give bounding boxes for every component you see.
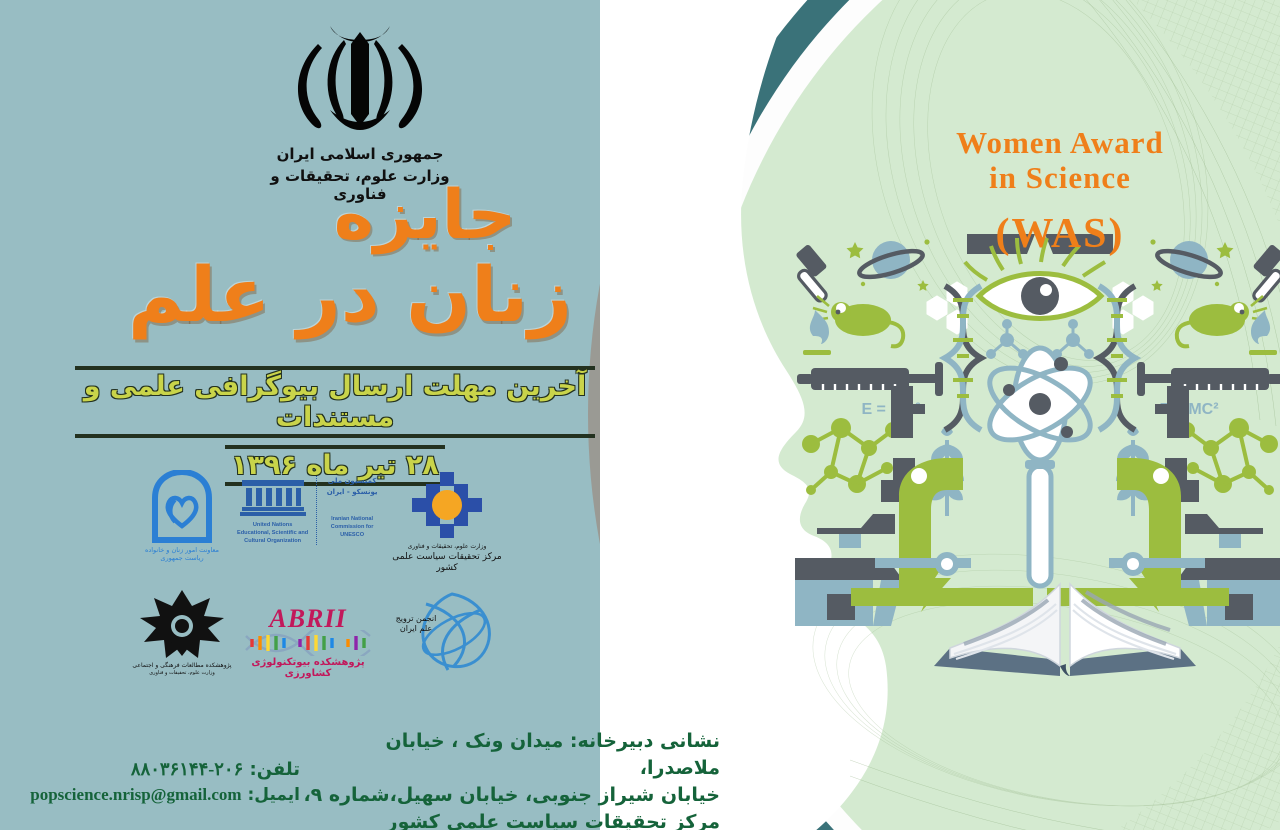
unesco-inc-line1: Iranian National (322, 515, 382, 523)
sponsor-logos: معاونت امور زنان و خانواده ریاست جمهوری (130, 470, 520, 710)
address-line-3: مرکز تحقیقات سیاست علمی کشور (300, 809, 720, 830)
english-title-line2: in Science (860, 161, 1260, 196)
unesco-sub-line1: United Nations (234, 521, 311, 529)
unesco-inc-line3: UNESCO (322, 531, 382, 539)
logo-abrii: ABRII پژوهشکده بیوتکنولوژی کشاورزی (234, 590, 382, 679)
nrisp-icon (404, 470, 490, 542)
contact-phone-email: تلفن: ۸۸۰۳۶۱۴۴-۲۰۶ ایمیل: popscience.nri… (28, 756, 300, 808)
unesco-sub-line2: Educational, Scientific and (234, 529, 311, 537)
logo-caption-nrisp-2: مرکز تحقیقات سیاست علمی کشور (382, 552, 512, 575)
logo-cultural-studies: پژوهشکده مطالعات فرهنگی و اجتماعی وزارت … (130, 590, 234, 676)
phone-value: ۸۸۰۳۶۱۴۴-۲۰۶ (131, 759, 243, 779)
cultural-studies-icon (140, 590, 224, 660)
open-book-icon (920, 548, 1210, 698)
deadline-block: آخرین مهلت ارسال بیوگرافی علمی و مستندات… (75, 366, 595, 486)
english-title-acronym: (WAS) (860, 211, 1260, 258)
deadline-text: آخرین مهلت ارسال بیوگرافی علمی و مستندات (75, 366, 595, 438)
abrii-dna-icon (244, 630, 372, 656)
emblem-caption-country: جمهوری اسلامی ایران (245, 145, 475, 163)
logo-unesco: United Nations Educational, Scientific a… (234, 470, 382, 545)
logo-popscience-assoc: انجمن ترویج علم ایران (382, 590, 512, 674)
womens-affairs-icon (141, 470, 223, 544)
iran-national-emblem-icon (270, 14, 450, 138)
address-line-2: خیابان شیراز جنوبی، خیابان سهیل،شماره ۹، (300, 782, 720, 809)
logo-nrisp: وزارت علوم، تحقیقات و فناوری مرکز تحقیقا… (382, 470, 512, 575)
contact-address: نشانی دبیرخانه: میدان ونک ، خیابان ملاصد… (300, 728, 720, 830)
logo-womens-affairs: معاونت امور زنان و خانواده ریاست جمهوری (130, 470, 234, 563)
persian-title: جایزه زنان در علم (60, 180, 640, 337)
logo-caption-cultural-2: وزارت علوم، تحقیقات و فناوری (130, 670, 234, 677)
address-line-1: نشانی دبیرخانه: میدان ونک ، خیابان ملاصد… (300, 728, 720, 782)
poster-canvas: E = MC² E = MC² (0, 0, 1280, 830)
logo-caption-nrisp-1: وزارت علوم، تحقیقات و فناوری (382, 543, 512, 551)
unesco-sub-line3: Cultural Organization (234, 537, 311, 545)
persian-title-line2: زنان در علم (60, 253, 640, 337)
unesco-inc-line2: Commission for (322, 523, 382, 531)
phone-label: تلفن: (250, 759, 300, 780)
english-title-line1: Women Award (860, 126, 1260, 161)
email-value[interactable]: popscience.nrisp@gmail.com (30, 785, 241, 804)
email-row: ایمیل: popscience.nrisp@gmail.com (28, 783, 300, 808)
persian-title-line1: جایزه (60, 180, 790, 251)
unesco-fa-line1: کمیسیون ملی (322, 476, 382, 487)
phone-row: تلفن: ۸۸۰۳۶۱۴۴-۲۰۶ (28, 756, 300, 783)
logo-caption-womens-affairs-1: معاونت امور زنان و خانواده (130, 546, 234, 554)
emblem-block: جمهوری اسلامی ایران وزارت علوم، تحقیقات … (245, 14, 475, 203)
email-label: ایمیل: (247, 785, 300, 805)
logo-caption-cultural-1: پژوهشکده مطالعات فرهنگی و اجتماعی (130, 662, 234, 670)
unesco-fa-line2: یونسکو - ایران (322, 487, 382, 498)
abrii-caption: پژوهشکده بیوتکنولوژی کشاورزی (234, 657, 382, 679)
english-title: Women Award in Science (WAS) (860, 126, 1260, 258)
logo-caption-popscience: انجمن ترویج علم ایران (388, 614, 444, 635)
unesco-temple-icon (240, 476, 306, 518)
logo-caption-womens-affairs-2: ریاست جمهوری (130, 554, 234, 562)
